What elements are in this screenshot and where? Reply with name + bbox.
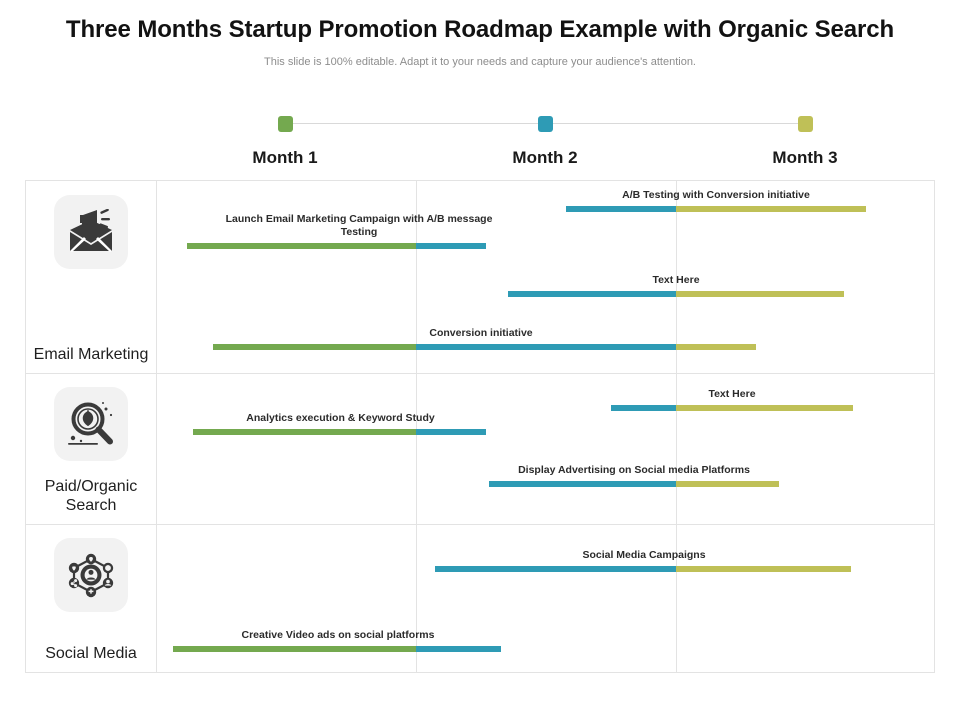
task-track-3-2[interactable] (173, 646, 501, 652)
month-label-2: Month 2 (455, 148, 635, 168)
month-label-1: Month 1 (195, 148, 375, 168)
task-segment-2-1-1 (193, 429, 416, 435)
grid-divider-row1 (26, 373, 934, 374)
task-label-1-4: Conversion initiative (386, 327, 576, 340)
task-segment-3-1-1 (435, 566, 676, 572)
task-label-2-3: Display Advertising on Social media Plat… (479, 464, 789, 477)
task-segment-1-4-2 (416, 344, 676, 350)
task-segment-1-2-1 (566, 206, 676, 212)
task-track-2-3[interactable] (489, 481, 779, 487)
task-label-1-2: A/B Testing with Conversion initiative (561, 189, 871, 202)
timeline (0, 112, 960, 142)
task-track-3-1[interactable] (435, 566, 851, 572)
task-track-2-1[interactable] (193, 429, 486, 435)
task-segment-1-2-2 (676, 206, 866, 212)
month-label-3: Month 3 (715, 148, 895, 168)
task-segment-2-3-1 (489, 481, 676, 487)
task-track-2-2[interactable] (611, 405, 853, 411)
task-bar-1-2[interactable]: A/B Testing with Conversion initiative (26, 184, 934, 212)
timeline-marker-month-3[interactable] (798, 116, 813, 132)
task-segment-1-4-1 (213, 344, 416, 350)
task-bar-2-2[interactable]: Text Here (26, 383, 934, 411)
task-track-1-2[interactable] (566, 206, 866, 212)
slide-root: Three Months Startup Promotion Roadmap E… (0, 0, 960, 720)
task-segment-1-4-3 (676, 344, 756, 350)
task-segment-1-3-2 (676, 291, 844, 297)
task-track-1-3[interactable] (508, 291, 844, 297)
task-track-1-4[interactable] (213, 344, 756, 350)
task-segment-1-1-1 (187, 243, 416, 249)
task-segment-3-1-2 (676, 566, 851, 572)
task-bar-2-1[interactable]: Analytics execution & Keyword Study (26, 407, 934, 435)
task-bar-3-1[interactable]: Social Media Campaigns (26, 544, 934, 572)
task-bar-3-2[interactable]: Creative Video ads on social platforms (26, 624, 934, 652)
task-segment-2-3-2 (676, 481, 779, 487)
task-label-1-3: Text Here (581, 274, 771, 287)
task-label-2-2: Text Here (637, 388, 827, 401)
timeline-marker-month-1[interactable] (278, 116, 293, 132)
task-segment-2-2-1 (611, 405, 676, 411)
task-label-2-1: Analytics execution & Keyword Study (193, 412, 488, 425)
page-subtitle: This slide is 100% editable. Adapt it to… (0, 56, 960, 68)
task-segment-3-2-1 (173, 646, 416, 652)
task-bar-2-3[interactable]: Display Advertising on Social media Plat… (26, 459, 934, 487)
grid-divider-row2 (26, 524, 934, 525)
roadmap-grid: Email MarketingLaunch Email Marketing Ca… (25, 180, 935, 673)
task-track-1-1[interactable] (187, 243, 486, 249)
timeline-marker-month-2[interactable] (538, 116, 553, 132)
task-label-1-1: Launch Email Marketing Campaign with A/B… (209, 213, 509, 239)
task-segment-2-2-2 (676, 405, 853, 411)
task-label-3-1: Social Media Campaigns (549, 549, 739, 562)
month-label-row: Month 1Month 2Month 3 (0, 148, 960, 174)
task-segment-1-1-2 (416, 243, 486, 249)
page-title: Three Months Startup Promotion Roadmap E… (0, 16, 960, 44)
task-label-3-2: Creative Video ads on social platforms (183, 629, 493, 642)
task-bar-1-1[interactable]: Launch Email Marketing Campaign with A/B… (26, 221, 934, 249)
task-bar-1-3[interactable]: Text Here (26, 269, 934, 297)
task-segment-3-2-2 (416, 646, 501, 652)
task-segment-1-3-1 (508, 291, 676, 297)
task-bar-1-4[interactable]: Conversion initiative (26, 322, 934, 350)
task-segment-2-1-2 (416, 429, 486, 435)
